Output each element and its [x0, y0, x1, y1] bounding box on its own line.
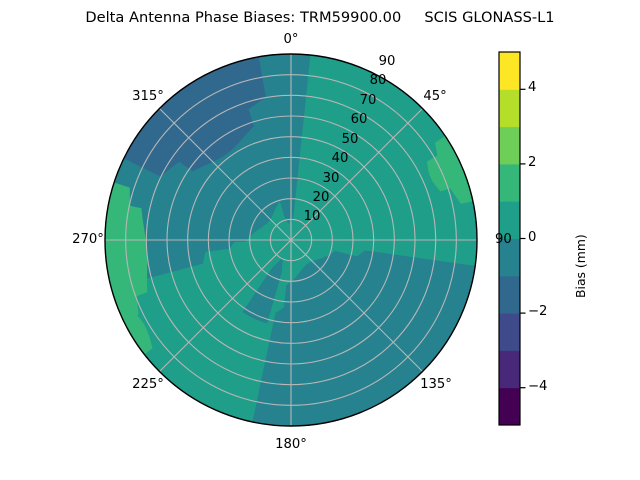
colorbar-tick-label-4: 4	[528, 80, 536, 95]
figure-canvas: Delta Antenna Phase Biases: TRM59900.00 …	[0, 0, 640, 480]
page-title: Delta Antenna Phase Biases: TRM59900.00 …	[0, 9, 640, 26]
angular-tick-label-225: 225°	[132, 377, 164, 392]
angular-tick-label-90: 90	[495, 232, 512, 247]
radial-tick-label-30: 30	[323, 171, 340, 186]
radial-tick-label-10: 10	[304, 209, 321, 224]
angular-tick-label-180: 180°	[275, 437, 307, 452]
radial-tick-label-70: 70	[360, 93, 377, 108]
colorbar-tick-label-1: −2	[528, 304, 547, 319]
angular-tick-label-45: 45°	[423, 89, 446, 104]
colorbar-axis-label: Bias (mm)	[573, 234, 588, 298]
radial-tick-label-50: 50	[342, 132, 359, 147]
colorbar-tick-label-3: 2	[528, 155, 536, 170]
colorbar-tick-label-0: −4	[528, 379, 547, 394]
radial-tick-label-40: 40	[332, 151, 349, 166]
colorbar-tick-label-2: 0	[528, 230, 536, 245]
angular-tick-label-270: 270°	[72, 232, 104, 247]
polar-grid-layer	[105, 54, 477, 426]
radial-tick-label-80: 80	[370, 73, 387, 88]
angular-tick-label-135: 135°	[420, 377, 452, 392]
radial-tick-label-90: 90	[379, 54, 396, 69]
angular-tick-label-315: 315°	[132, 89, 164, 104]
radial-tick-label-60: 60	[351, 112, 368, 127]
angular-tick-label-0: 0°	[284, 32, 299, 47]
radial-tick-label-20: 20	[313, 190, 330, 205]
